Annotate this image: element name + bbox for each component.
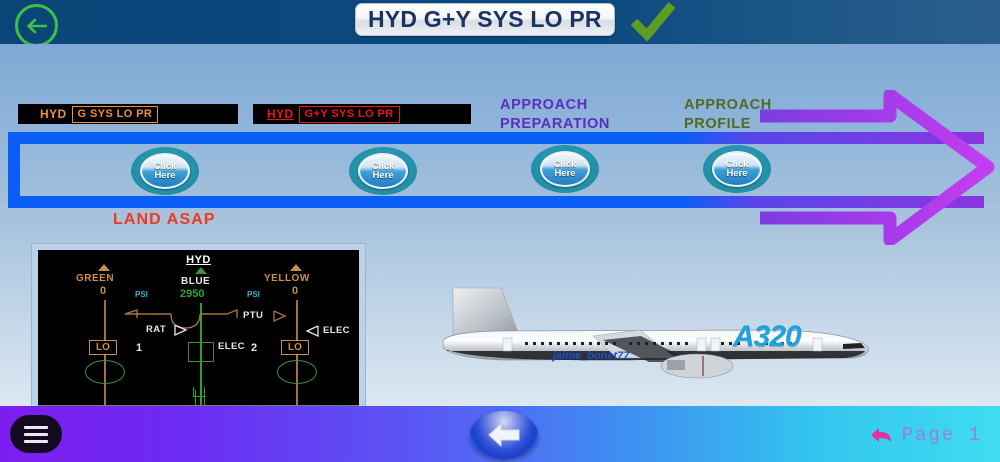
green-sys-name: GREEN <box>76 273 114 284</box>
page-indicator[interactable]: Page 1 <box>870 424 982 446</box>
blue-sys-value: 2950 <box>180 288 204 300</box>
page-title-text: HYD G+Y SYS LO PR <box>368 6 602 33</box>
yellow-sys-triangle-icon <box>290 264 302 271</box>
aircraft-illustration: A320 jaime_bonet77 <box>435 280 880 390</box>
hamburger-menu-icon[interactable] <box>10 415 62 453</box>
aircraft-model-tag: A320 <box>733 320 801 354</box>
click-here-button-inner: ClickHere <box>712 151 762 187</box>
green-sys-pump-ellipse <box>85 360 125 384</box>
aircraft-signature: jaime_bonet77 <box>553 350 629 362</box>
click-here-label: ClickHere <box>554 160 577 179</box>
warning-label: HYD <box>18 107 72 121</box>
green-sys-line-upper <box>104 300 106 340</box>
elec-right-label: ELEC <box>323 325 350 336</box>
rat-arrow-icon <box>174 324 190 336</box>
ecam-title: HYD <box>186 254 211 266</box>
click-here-button-2[interactable]: ClickHere <box>349 147 417 195</box>
hamburger-line <box>24 426 48 429</box>
a320-side-view-icon <box>435 280 880 390</box>
app-root: HYD G+Y SYS LO PR HYD G SYS LO PR HYD G+… <box>0 0 1000 462</box>
bottom-bar <box>0 406 1000 462</box>
nav-back-arrow-icon <box>487 422 521 448</box>
click-here-button-3[interactable]: ClickHere <box>531 145 599 193</box>
back-arrow-icon <box>25 18 49 34</box>
caption-line-1: APPROACH <box>684 96 772 115</box>
rat-label: RAT <box>146 324 166 335</box>
ptu-right-arrow-icon <box>273 310 289 322</box>
warning-value: G SYS LO PR <box>72 106 159 123</box>
hamburger-line <box>24 433 48 436</box>
yellow-sys-pump-ellipse <box>277 360 317 384</box>
yellow-elec-arrow-icon <box>303 325 319 337</box>
green-sys-lo-box: LO <box>89 340 117 355</box>
click-here-button-1[interactable]: ClickHere <box>131 147 199 195</box>
top-bar: HYD G+Y SYS LO PR <box>0 0 1000 44</box>
caption-approach-profile: APPROACH PROFILE <box>684 96 772 134</box>
warning-box-gy-sys: HYD G+Y SYS LO PR <box>253 104 471 124</box>
blue-sys-triangle-icon <box>195 267 207 274</box>
back-button[interactable] <box>15 4 58 47</box>
progress-band-left <box>8 132 20 208</box>
hamburger-line <box>24 440 48 443</box>
yellow-sys-lo-box: LO <box>281 340 309 355</box>
land-asap-label: LAND ASAP <box>113 211 216 229</box>
warning-label: HYD <box>253 107 299 121</box>
warning-box-g-sys: HYD G SYS LO PR <box>18 104 238 124</box>
caption-line-1: APPROACH <box>500 96 610 115</box>
yellow-sys-number: 2 <box>251 342 257 354</box>
green-sys-triangle-icon <box>98 264 110 271</box>
click-here-button-inner: ClickHere <box>140 153 190 189</box>
click-here-button-inner: ClickHere <box>540 151 590 187</box>
green-check-icon <box>630 2 676 47</box>
psi-label-left: PSI <box>135 290 148 299</box>
right-arrow-outline-icon <box>760 90 1000 250</box>
caption-approach-preparation: APPROACH PREPARATION <box>500 96 610 134</box>
page-title: HYD G+Y SYS LO PR <box>355 3 615 36</box>
page-label: Page 1 <box>902 424 982 446</box>
yellow-sys-name: YELLOW <box>264 273 310 284</box>
main-stage: HYD G SYS LO PR HYD G+Y SYS LO PR APPROA… <box>0 44 1000 406</box>
blue-sys-name: BLUE <box>181 276 210 287</box>
click-here-button-inner: ClickHere <box>358 153 408 189</box>
pink-back-arrow-icon <box>870 426 892 444</box>
green-sys-value: 0 <box>100 285 106 297</box>
click-here-label: ClickHere <box>372 162 395 181</box>
click-here-label: ClickHere <box>154 162 177 181</box>
yellow-sys-value: 0 <box>292 285 298 297</box>
blue-sys-elec-box <box>188 342 214 362</box>
click-here-button-4[interactable]: ClickHere <box>703 145 771 193</box>
yellow-sys-line-upper <box>296 300 298 340</box>
psi-label-right: PSI <box>247 290 260 299</box>
ptu-label: PTU <box>243 310 263 321</box>
click-here-label: ClickHere <box>726 160 749 179</box>
nav-back-button[interactable] <box>470 411 538 459</box>
green-sys-number: 1 <box>136 342 142 354</box>
warning-value: G+Y SYS LO PR <box>299 106 400 123</box>
elec-center-label: ELEC <box>218 341 245 352</box>
